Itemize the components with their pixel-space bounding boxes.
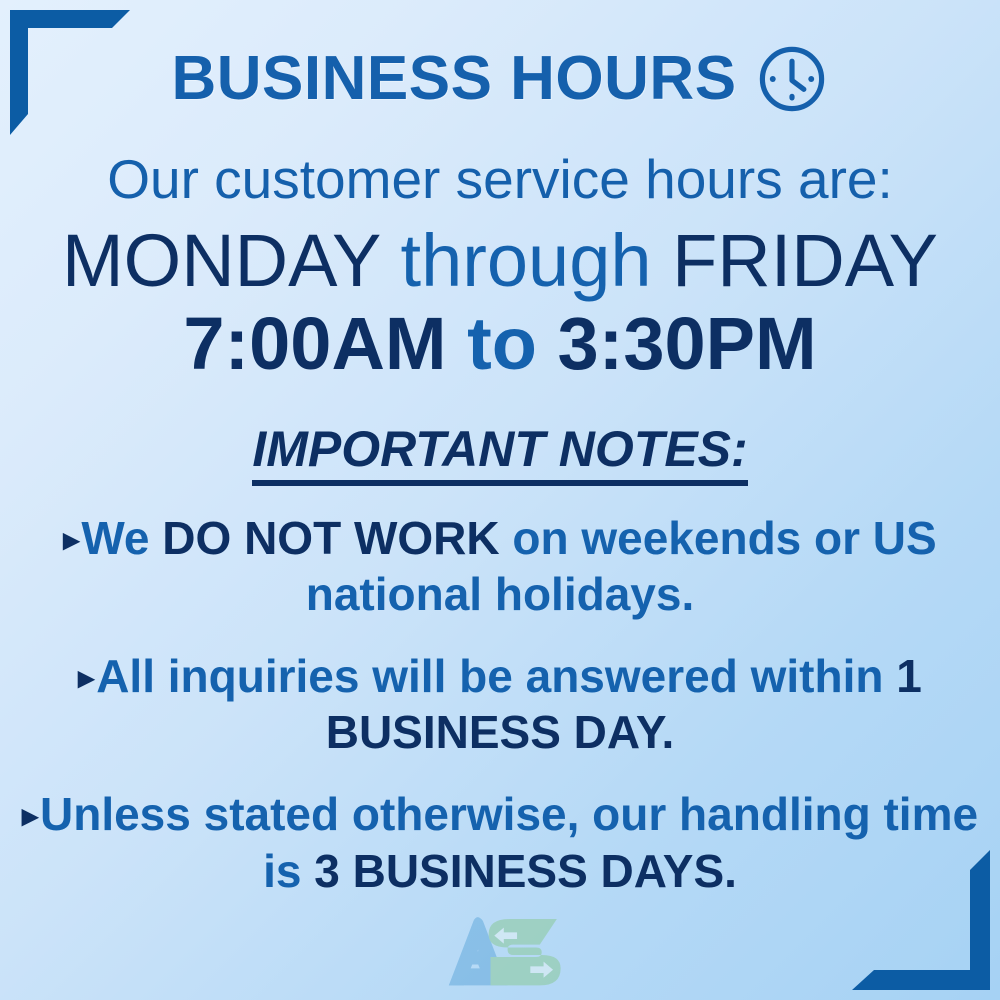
days-connector: through	[401, 219, 652, 302]
list-item: ▸Unless stated otherwise, our handling t…	[20, 786, 980, 898]
open-time: 7:00AM	[183, 302, 446, 385]
list-item: ▸We DO NOT WORK on weekends or US nation…	[20, 510, 980, 622]
start-day: MONDAY	[62, 219, 380, 302]
notes-list: ▸We DO NOT WORK on weekends or US nation…	[20, 510, 980, 925]
end-day: FRIDAY	[672, 219, 938, 302]
notes-heading: IMPORTANT NOTES:	[0, 424, 1000, 474]
note-emphasis: DO NOT WORK	[162, 512, 499, 564]
time-connector: to	[467, 302, 537, 385]
note-lead: All inquiries will be answered within	[96, 650, 896, 702]
note-emphasis: 3 BUSINESS DAYS.	[314, 845, 737, 897]
clock-icon	[755, 42, 829, 116]
bullet-arrow-icon: ▸	[63, 521, 79, 557]
subtitle: Our customer service hours are:	[0, 152, 1000, 207]
notes-heading-text: IMPORTANT NOTES:	[252, 421, 747, 486]
time-line: 7:00AM to 3:30PM	[0, 305, 1000, 383]
business-hours-poster: BUSINESS HOURS Our customer service hour…	[0, 0, 1000, 1000]
headline-row: BUSINESS HOURS	[0, 42, 1000, 116]
bullet-arrow-icon: ▸	[78, 659, 94, 695]
bullet-arrow-icon: ▸	[22, 797, 38, 833]
note-lead: We	[81, 512, 162, 564]
days-line: MONDAY through FRIDAY	[0, 222, 1000, 300]
close-time: 3:30PM	[558, 302, 817, 385]
page-title: BUSINESS HOURS	[171, 48, 736, 110]
as-logo	[405, 902, 595, 992]
list-item: ▸All inquiries will be answered within 1…	[20, 648, 980, 760]
